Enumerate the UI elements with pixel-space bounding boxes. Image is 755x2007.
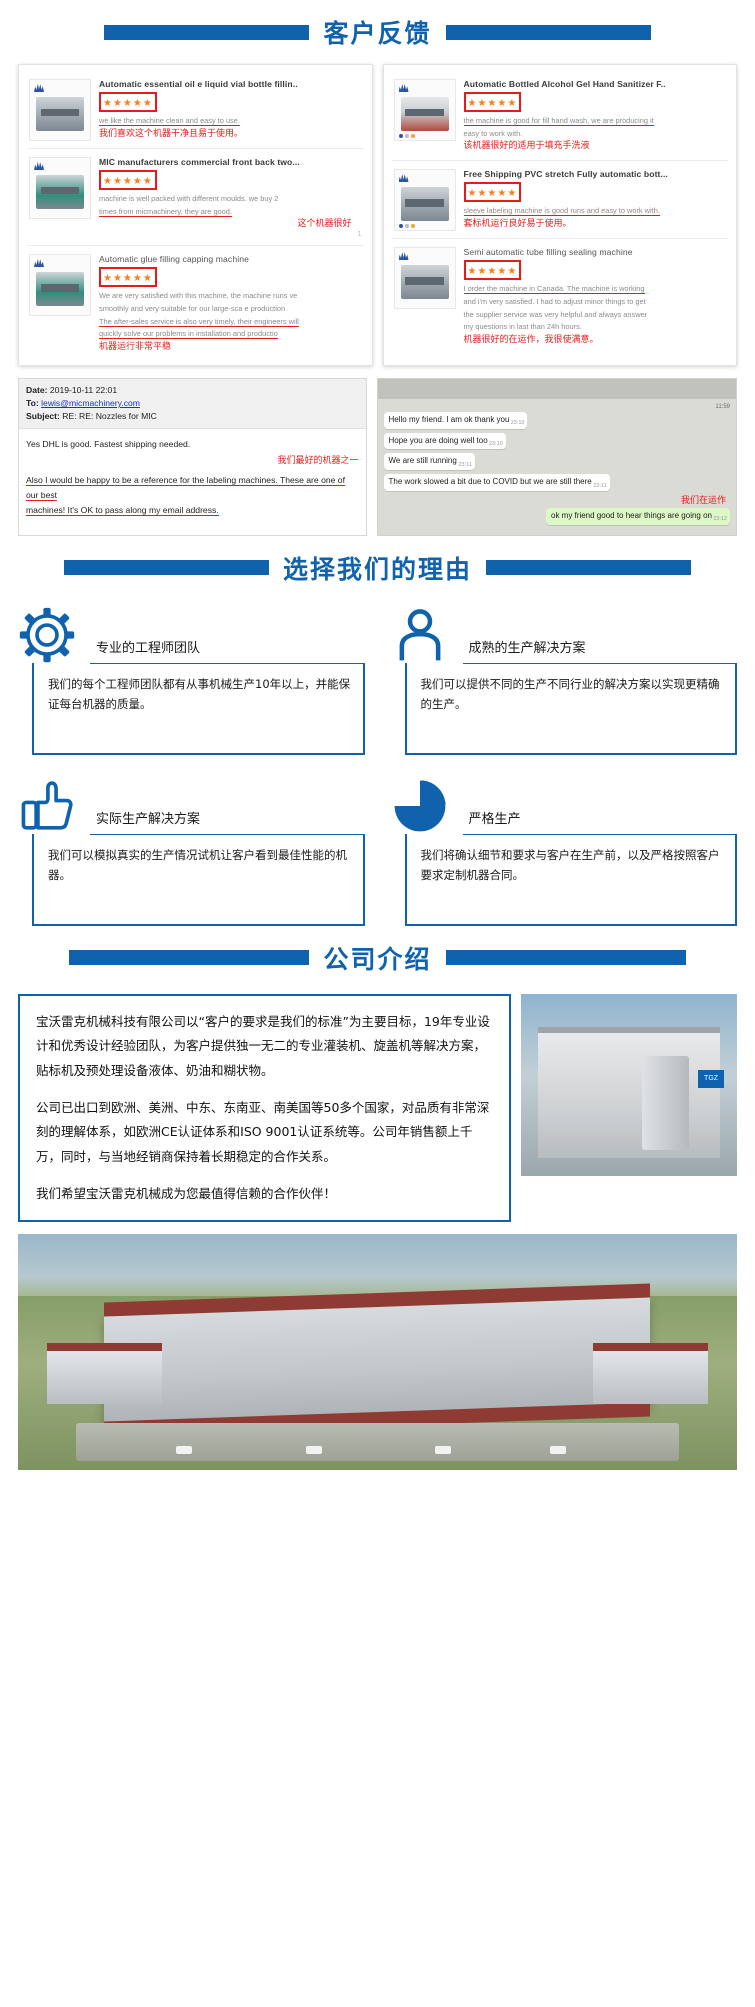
- whatsapp-message-text: The work slowed a bit due to COVID but w…: [389, 477, 592, 486]
- header-bar-left: [69, 950, 309, 965]
- why-body-text: 我们的每个工程师团队都有从事机械生产10年以上，并能保证每台机器的质量。: [32, 663, 365, 755]
- review-product-title[interactable]: Automatic essential oil e liquid vial bo…: [99, 79, 362, 89]
- company-intro-section: 宝沃雷克机械科技有限公司以“客户的要求是我们的标准”为主要目标，19年专业设计和…: [0, 990, 755, 1223]
- factory-sign: TGZ: [698, 1070, 724, 1088]
- company-paragraph-2: 公司已出口到欧洲、美洲、中东、东南亚、南美国等50多个国家，对品质有非常深刻的理…: [36, 1096, 495, 1169]
- machine-photo: [401, 187, 449, 221]
- header-bar-left: [64, 560, 269, 575]
- reviews-column-left: Automatic essential oil e liquid vial bo…: [18, 64, 373, 366]
- review-text-en-2: times from micmachinery. they are good.: [99, 207, 362, 218]
- thumbs-up-icon: [18, 777, 76, 835]
- whatsapp-message-text: ok my friend good to hear things are goi…: [551, 511, 712, 520]
- email-screenshot: Date: 2019-10-11 22:01 To: lewis@micmach…: [18, 378, 367, 536]
- review-text-cn: 该机器很好的适用于填充手洗液: [464, 141, 727, 153]
- why-body-text: 我们将确认细节和要求与客户在生产前，以及严格按照客户要求定制机器合同。: [405, 834, 738, 926]
- whatsapp-message-text: We are still running: [389, 456, 457, 465]
- reviews-grid: Automatic essential oil e liquid vial bo…: [0, 64, 755, 366]
- factory-wing-right: [593, 1343, 708, 1404]
- rating-stars: ★★★★★: [99, 267, 157, 287]
- review-text-en-4: quickly solve our problems in installati…: [99, 329, 362, 340]
- reviews-column-right: Automatic Bottled Alcohol Gel Hand Sanit…: [383, 64, 738, 366]
- product-thumbnail: [29, 254, 91, 316]
- header-bar-right: [446, 25, 651, 40]
- stars-glyphs: ★★★★★: [468, 266, 518, 277]
- mic-logo-icon: [34, 161, 44, 170]
- whatsapp-message-text: Hope you are doing well too: [389, 436, 488, 445]
- machine-photo: [36, 272, 84, 306]
- stars-glyphs: ★★★★★: [468, 98, 518, 109]
- factory-building: [538, 1027, 719, 1158]
- whatsapp-bubble: The work slowed a bit due to COVID but w…: [384, 474, 610, 491]
- why-heading: 成熟的生产解决方案: [463, 637, 738, 664]
- email-line-2: Also I would be happy to be a reference …: [26, 473, 359, 503]
- why-body-text: 我们可以提供不同的生产不同行业的解决方案以实现更精确的生产。: [405, 663, 738, 755]
- product-thumbnail: [394, 247, 456, 309]
- whatsapp-message-time: 23:10: [489, 441, 503, 448]
- main-factory-roof: [104, 1296, 650, 1424]
- why-heading: 专业的工程师团队: [90, 637, 365, 664]
- review-card[interactable]: Automatic essential oil e liquid vial bo…: [27, 71, 364, 149]
- stars-glyphs: ★★★★★: [103, 273, 153, 284]
- parked-car: [306, 1446, 322, 1454]
- company-paragraph-1: 宝沃雷克机械科技有限公司以“客户的要求是我们的标准”为主要目标，19年专业设计和…: [36, 1010, 495, 1083]
- communication-proof-row: Date: 2019-10-11 22:01 To: lewis@micmach…: [0, 366, 755, 536]
- why-heading: 严格生产: [463, 808, 738, 835]
- header-bar-right: [446, 950, 686, 965]
- storage-tank: [642, 1056, 690, 1151]
- page-title-why: 选择我们的理由: [269, 550, 486, 586]
- whatsapp-message-row: The work slowed a bit due to COVID but w…: [384, 474, 731, 491]
- why-item-engineers: 专业的工程师团队 我们的每个工程师团队都有从事机械生产10年以上，并能保证每台机…: [18, 606, 365, 755]
- color-swatches: [399, 134, 415, 138]
- review-text-en-2: and i'm very satisfied. I had to adjust …: [464, 297, 727, 308]
- review-product-title[interactable]: Automatic Bottled Alcohol Gel Hand Sanit…: [464, 79, 727, 89]
- review-card[interactable]: Free Shipping PVC stretch Fully automati…: [392, 161, 729, 239]
- whatsapp-message-row: Hello my friend. I am ok thank you 23:10: [384, 412, 731, 429]
- mic-logo-icon: [399, 173, 409, 182]
- review-text-cn: 套标机运行良好易于使用。: [464, 219, 727, 231]
- email-date-label: Date:: [26, 385, 48, 395]
- whatsapp-message-time: 23:10: [511, 420, 525, 427]
- whatsapp-bubble: Hope you are doing well too 23:10: [384, 433, 506, 450]
- whatsapp-message-row: We are still running 23:11: [384, 453, 731, 470]
- gear-icon: [18, 606, 76, 664]
- email-annotation-cn: 我们最好的机器之一: [26, 454, 359, 470]
- email-to-label: To:: [26, 398, 39, 408]
- stars-glyphs: ★★★★★: [468, 188, 518, 199]
- rating-stars: ★★★★★: [464, 92, 522, 112]
- parked-car: [176, 1446, 192, 1454]
- section-header-company: 公司介绍: [0, 926, 755, 990]
- mic-logo-icon: [399, 251, 409, 260]
- review-text-cn: 机器很好的在运作，我很使满意。: [464, 335, 727, 347]
- email-subject-label: Subject:: [26, 411, 60, 421]
- rating-stars: ★★★★★: [464, 260, 522, 280]
- review-text-en-3: The after-sales service is also very tim…: [99, 317, 362, 328]
- review-text-cn: 我们喜欢这个机器干净且易于使用。: [99, 129, 362, 141]
- factory-photo-small: TGZ: [521, 994, 737, 1176]
- review-product-title[interactable]: Automatic glue filling capping machine: [99, 254, 362, 264]
- rating-stars: ★★★★★: [99, 92, 157, 112]
- whatsapp-header-bar: [378, 379, 737, 399]
- why-grid: 专业的工程师团队 我们的每个工程师团队都有从事机械生产10年以上，并能保证每台机…: [18, 606, 737, 926]
- review-text-en-2: smoothly and very suitable for our large…: [99, 304, 362, 315]
- parking-lot: [76, 1423, 680, 1461]
- review-text-en: machine is well packed with different mo…: [99, 194, 362, 205]
- email-line-3: machines! It's OK to pass along my email…: [26, 503, 359, 518]
- mic-logo-icon: [34, 83, 44, 92]
- machine-photo: [401, 265, 449, 299]
- review-product-title[interactable]: MIC manufacturers commercial front back …: [99, 157, 362, 167]
- parked-car: [550, 1446, 566, 1454]
- why-item-strict-production: 严格生产 我们将确认细节和要求与客户在生产前，以及严格按照客户要求定制机器合同。: [391, 777, 738, 926]
- factory-aerial-photo: [18, 1234, 737, 1470]
- why-body-text: 我们可以模拟真实的生产情况试机让客户看到最佳性能的机器。: [32, 834, 365, 926]
- section-header-feedback: 客户反馈: [0, 0, 755, 64]
- whatsapp-bubble: Hello my friend. I am ok thank you 23:10: [384, 412, 528, 429]
- why-item-solutions: 成熟的生产解决方案 我们可以提供不同的生产不同行业的解决方案以实现更精确的生产。: [391, 606, 738, 755]
- color-swatches: [399, 224, 415, 228]
- review-product-title[interactable]: Free Shipping PVC stretch Fully automati…: [464, 169, 727, 179]
- review-text-en-2: easy to work with.: [464, 129, 727, 140]
- mic-logo-icon: [34, 258, 44, 267]
- review-text-cn: 这个机器很好: [99, 219, 362, 231]
- review-text-en: We are very satisfied with this machine,…: [99, 291, 362, 302]
- header-bar-right: [486, 560, 691, 575]
- review-card[interactable]: MIC manufacturers commercial front back …: [27, 149, 364, 246]
- email-line-1: Yes DHL is good. Fastest shipping needed…: [26, 437, 359, 452]
- mic-logo-icon: [399, 83, 409, 92]
- whatsapp-message-time: 23:11: [593, 483, 606, 490]
- why-heading: 实际生产解决方案: [90, 808, 365, 835]
- review-text-cn: 机器运行非常平稳: [99, 342, 362, 354]
- whatsapp-bubble: ok my friend good to hear things are goi…: [546, 508, 730, 525]
- stars-glyphs: ★★★★★: [103, 176, 153, 187]
- email-to-link[interactable]: lewis@micmachinery.com: [41, 398, 140, 408]
- machine-photo: [36, 97, 84, 131]
- whatsapp-message-time: 23:12: [713, 516, 727, 523]
- person-icon: [391, 606, 449, 664]
- review-text-en: sleeve labeling machine is good runs and…: [464, 206, 727, 217]
- email-date-value: 2019-10-11 22:01: [50, 385, 117, 395]
- whatsapp-bubble: We are still running 23:11: [384, 453, 475, 470]
- product-thumbnail: [29, 79, 91, 141]
- whatsapp-message-time: 23:11: [458, 462, 471, 469]
- review-text-en: we like the machine clean and easy to us…: [99, 116, 362, 127]
- product-thumbnail: [29, 157, 91, 219]
- review-text-en: the machine is good for fill hand wash, …: [464, 116, 727, 127]
- whatsapp-screenshot: 11:59 Hello my friend. I am ok thank you…: [377, 378, 738, 536]
- company-intro-text: 宝沃雷克机械科技有限公司以“客户的要求是我们的标准”为主要目标，19年专业设计和…: [18, 994, 511, 1223]
- factory-wing-left: [47, 1343, 162, 1404]
- review-card[interactable]: Automatic glue filling capping machine ★…: [27, 246, 364, 361]
- page-title-feedback: 客户反馈: [309, 14, 445, 50]
- email-header: Date: 2019-10-11 22:01 To: lewis@micmach…: [19, 379, 366, 429]
- machine-photo: [401, 97, 449, 131]
- section-header-why: 选择我们的理由: [0, 536, 755, 600]
- product-thumbnail: [394, 169, 456, 231]
- why-choose-us-section: 专业的工程师团队 我们的每个工程师团队都有从事机械生产10年以上，并能保证每台机…: [0, 600, 755, 926]
- why-item-real-production: 实际生产解决方案 我们可以模拟真实的生产情况试机让客户看到最佳性能的机器。: [18, 777, 365, 926]
- whatsapp-timestamp: 11:59: [384, 404, 731, 410]
- pie-chart-icon: [391, 777, 449, 835]
- review-text-en: I order the machine in Canada. The machi…: [464, 284, 727, 295]
- product-detail-page: 客户反馈 Automatic essential oil e liquid vi…: [0, 0, 755, 1470]
- whatsapp-annotation-cn: 我们在运作: [384, 493, 727, 506]
- company-paragraph-3: 我们希望宝沃雷克机械成为您最值得信赖的合作伙伴！: [36, 1182, 495, 1206]
- header-bar-left: [104, 25, 309, 40]
- whatsapp-message-text: Hello my friend. I am ok thank you: [389, 415, 510, 424]
- email-subject-value: RE: RE: Nozzles for MIC: [62, 411, 157, 421]
- rating-stars: ★★★★★: [464, 182, 522, 202]
- whatsapp-message-row: Hope you are doing well too 23:10: [384, 433, 731, 450]
- page-title-company: 公司介绍: [309, 940, 445, 976]
- product-thumbnail: [394, 79, 456, 141]
- review-card[interactable]: Automatic Bottled Alcohol Gel Hand Sanit…: [392, 71, 729, 161]
- review-text-en-3: the supplier service was very helpful an…: [464, 310, 727, 321]
- review-text-en-4: my questions in last than 24h hours.: [464, 322, 727, 333]
- stars-glyphs: ★★★★★: [103, 98, 153, 109]
- whatsapp-message-row: ok my friend good to hear things are goi…: [384, 508, 731, 525]
- review-product-title[interactable]: Semi automatic tube filling sealing mach…: [464, 247, 727, 257]
- rating-stars: ★★★★★: [99, 170, 157, 190]
- parked-car: [435, 1446, 451, 1454]
- email-body: Yes DHL is good. Fastest shipping needed…: [19, 429, 366, 528]
- review-meta: 1: [99, 231, 362, 238]
- machine-photo: [36, 175, 84, 209]
- review-card[interactable]: Semi automatic tube filling sealing mach…: [392, 239, 729, 354]
